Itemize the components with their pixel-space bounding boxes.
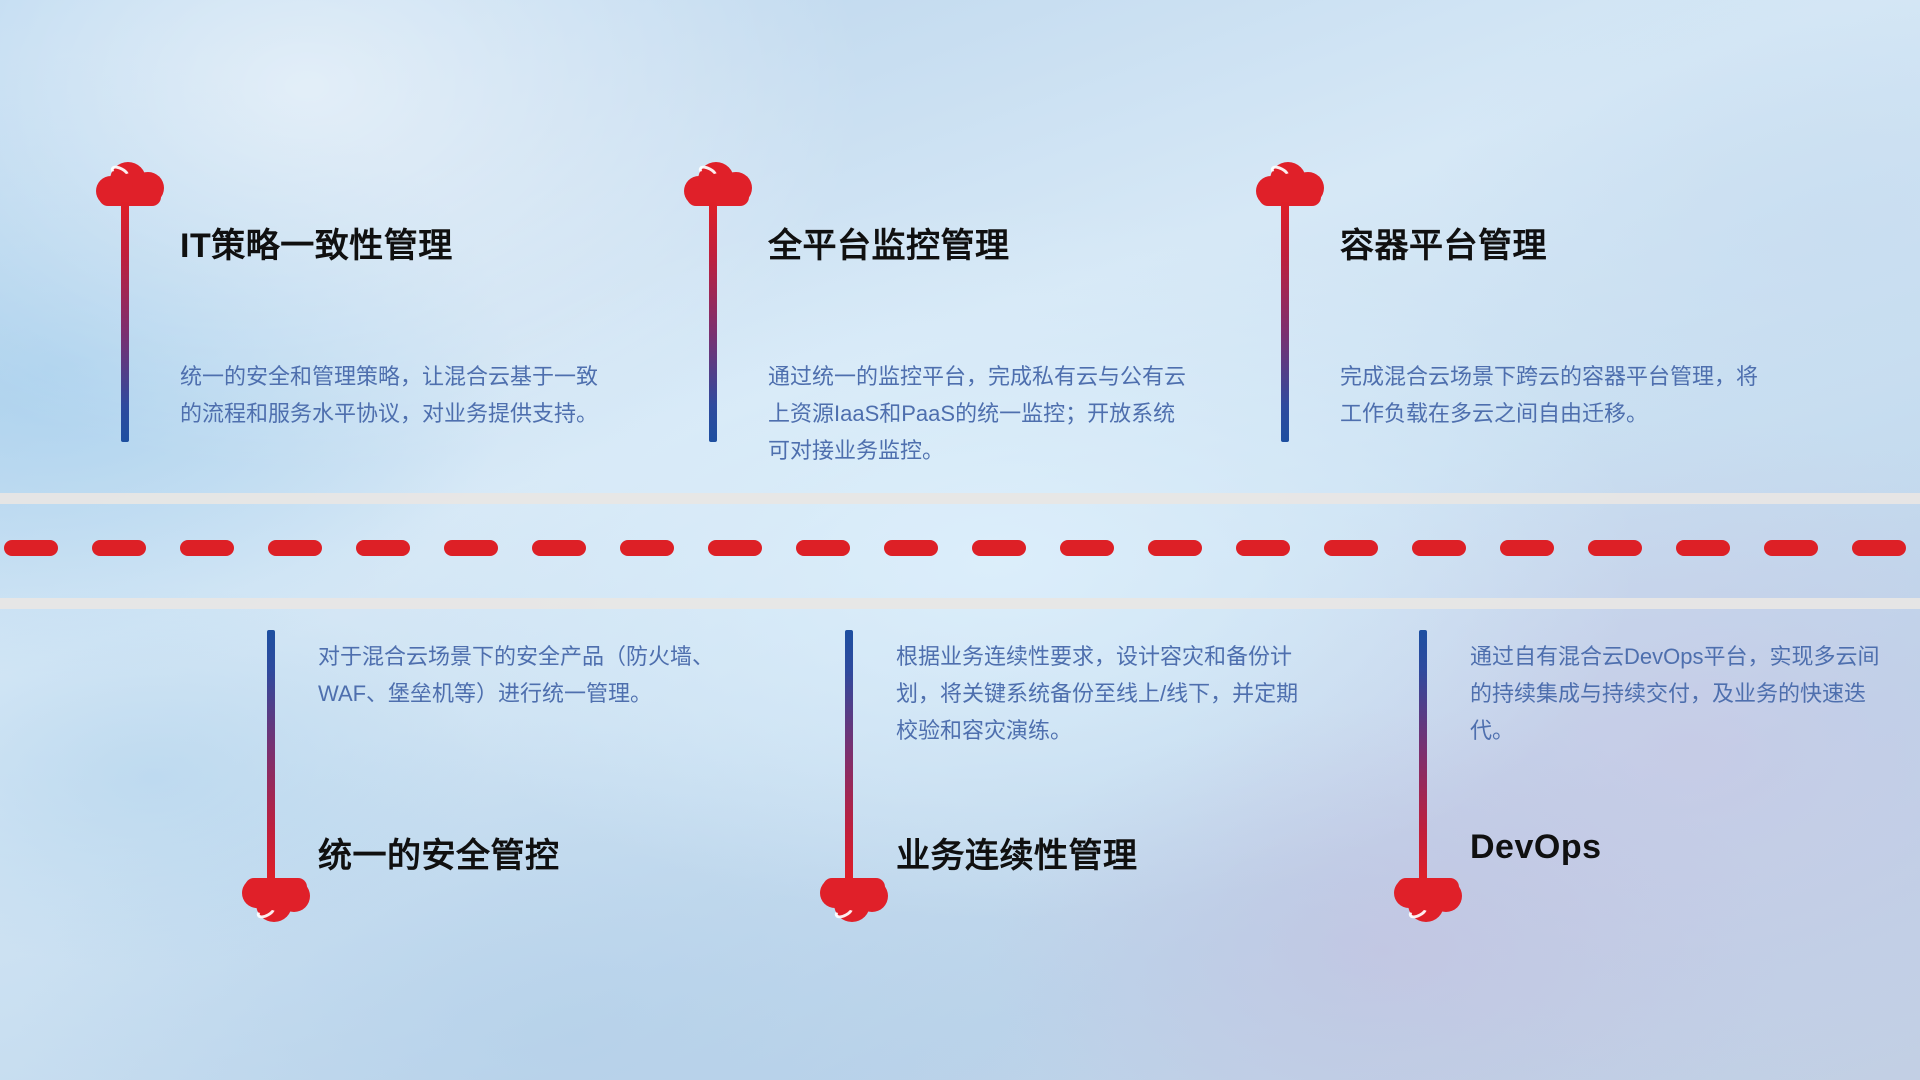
top-body-3: 完成混合云场景下跨云的容器平台管理，将工作负载在多云之间自由迁移。 [1340, 358, 1760, 432]
bottom-body-1: 对于混合云场景下的安全产品（防火墙、WAF、堡垒机等）进行统一管理。 [318, 638, 738, 712]
top-title-1: IT策略一致性管理 [180, 218, 453, 267]
cloud-icon [1394, 878, 1462, 924]
road-dash-segment [796, 540, 850, 556]
infographic-canvas: IT策略一致性管理 统一的安全和管理策略，让混合云基于一致的流程和服务水平协议，… [0, 0, 1920, 1080]
bottom-body-2: 根据业务连续性要求，设计容灾和备份计划，将关键系统备份至线上/线下，并定期校验和… [896, 638, 1316, 749]
top-body-1: 统一的安全和管理策略，让混合云基于一致的流程和服务水平协议，对业务提供支持。 [180, 358, 600, 432]
top-title-3: 容器平台管理 [1340, 218, 1547, 267]
road-dash-segment [180, 540, 234, 556]
road-center-dashes [0, 540, 1920, 556]
road-dash-segment [972, 540, 1026, 556]
road-dash-segment [1764, 540, 1818, 556]
bottom-title-3: DevOps [1470, 828, 1602, 867]
road-edge-line-bottom [0, 598, 1920, 609]
road-dash-segment [884, 540, 938, 556]
road-dash-segment [1412, 540, 1466, 556]
bottom-title-1: 统一的安全管控 [318, 828, 560, 877]
pin-stem [1281, 202, 1289, 442]
road-dash-segment [708, 540, 762, 556]
road-dash-segment [356, 540, 410, 556]
top-body-2: 通过统一的监控平台，完成私有云与公有云上资源IaaS和PaaS的统一监控；开放系… [768, 358, 1188, 469]
bottom-body-3: 通过自有混合云DevOps平台，实现多云间的持续集成与持续交付，及业务的快速迭代… [1470, 638, 1890, 749]
pin-stem [709, 202, 717, 442]
bottom-title-2: 业务连续性管理 [896, 828, 1138, 877]
road-dash-segment [1148, 540, 1202, 556]
road-dash-segment [444, 540, 498, 556]
cloud-icon [820, 878, 888, 924]
road-dash-segment [4, 540, 58, 556]
pin-stem [121, 202, 129, 442]
cloud-icon [96, 160, 164, 206]
road-dash-segment [268, 540, 322, 556]
road-dash-segment [1500, 540, 1554, 556]
cloud-icon [1256, 160, 1324, 206]
road-dash-segment [92, 540, 146, 556]
pin-stem [1419, 630, 1427, 880]
pin-stem [845, 630, 853, 880]
road-dash-segment [532, 540, 586, 556]
cloud-icon [684, 160, 752, 206]
road-dash-segment [1236, 540, 1290, 556]
top-title-2: 全平台监控管理 [768, 218, 1010, 267]
road-dash-segment [1676, 540, 1730, 556]
cloud-icon [242, 878, 310, 924]
road-dash-segment [1060, 540, 1114, 556]
pin-stem [267, 630, 275, 880]
road-dash-segment [620, 540, 674, 556]
road-dash-segment [1324, 540, 1378, 556]
road-dash-segment [1852, 540, 1906, 556]
road-edge-line-top [0, 493, 1920, 504]
road-dash-segment [1588, 540, 1642, 556]
